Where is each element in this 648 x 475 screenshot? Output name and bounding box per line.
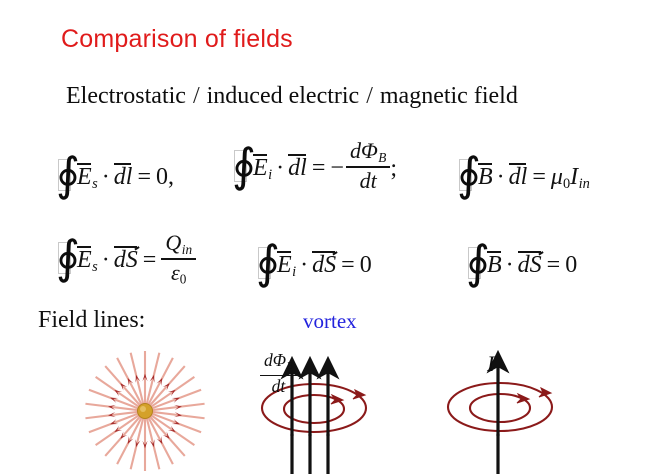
- current-symbol: I: [570, 164, 578, 191]
- field-arrow-stems-upper: [292, 368, 328, 436]
- equation-ampere-law: ∮ B·dl=μ0Iin: [457, 152, 590, 198]
- dot-product-operator: ·: [493, 164, 509, 190]
- equation-faraday-static-circulation: ∮ Es·dl=0,: [56, 152, 174, 198]
- current-subscript: in: [579, 176, 590, 192]
- differential-dS: dS: [518, 252, 542, 279]
- equals-sign: =: [336, 252, 360, 278]
- diagram-induced-electric-vortex: dΦB dt: [252, 350, 427, 475]
- label-flux-rate: dΦB dt: [260, 352, 297, 398]
- field-symbol-B: B: [487, 252, 502, 279]
- label-current-I: I: [487, 351, 494, 377]
- fraction-dphi-dt-diagram: dΦB dt: [260, 352, 297, 396]
- differential-dl: dl: [288, 155, 307, 182]
- vortex-label: vortex: [303, 309, 357, 334]
- numerator-text: Q: [165, 230, 181, 255]
- point-charge-highlight: [140, 406, 146, 412]
- fraction-numerator: dΦB: [346, 140, 390, 165]
- integral-glyph: ∮: [232, 137, 251, 193]
- field-subscript: s: [92, 259, 98, 275]
- dot-product-operator: ·: [98, 247, 114, 273]
- fraction-numerator: dΦB: [260, 352, 297, 374]
- fraction-denominator: dt: [260, 377, 297, 396]
- circulation-arrowhead-outer: [353, 390, 365, 399]
- equals-sign: =: [542, 252, 566, 278]
- subtitle-separator-2: /: [359, 83, 380, 109]
- equals-sign: =: [132, 164, 156, 190]
- numerator-text: dΦ: [350, 138, 378, 163]
- field-subscript: s: [92, 176, 98, 192]
- differential-dl: dl: [114, 164, 133, 191]
- field-symbol-E: E: [77, 164, 92, 191]
- contour-integral-icon: ∮: [457, 152, 476, 198]
- equals-sign: =: [307, 155, 331, 181]
- integral-glyph: ∮: [56, 146, 75, 202]
- trailing-punctuation: ,: [168, 164, 174, 190]
- fraction-denominator: ε0: [161, 261, 196, 286]
- field-symbol-E: E: [277, 252, 292, 279]
- equation-gauss-law-electric: ∮ Es·dS= Qin ε0: [56, 232, 196, 286]
- magnetic-vortex-svg: [440, 350, 610, 475]
- field-arrow-stems-lower: [292, 434, 328, 474]
- fraction-denominator: dt: [346, 169, 390, 193]
- numerator-text: dΦ: [264, 350, 286, 370]
- integral-glyph: ∮: [466, 234, 485, 290]
- rhs-value: 0: [565, 252, 577, 278]
- rhs-value: 0: [360, 252, 372, 278]
- contour-integral-icon: ∮: [256, 240, 275, 286]
- equals-sign: =: [138, 247, 162, 273]
- differential-dS: dS: [114, 247, 138, 274]
- numerator-subscript: B: [287, 361, 293, 372]
- equation-gauss-law-induced: ∮ Ei·dS=0: [256, 240, 372, 286]
- integral-glyph: ∮: [256, 234, 275, 290]
- fraction-dphi-dt: dΦB dt: [346, 140, 390, 192]
- diagram-magnetic-vortex: I: [440, 350, 610, 475]
- contour-integral-icon: ∮: [56, 152, 75, 198]
- minus-sign: −: [330, 155, 346, 181]
- contour-integral-icon: ∮: [56, 235, 75, 281]
- field-symbol-E: E: [77, 247, 92, 274]
- equals-sign: =: [527, 164, 551, 190]
- vortex-loops-group: [448, 383, 552, 431]
- trailing-punctuation: ;: [390, 155, 397, 181]
- field-symbol-B: B: [478, 164, 493, 191]
- subtitle-part-electrostatic: Electrostatic: [66, 83, 186, 109]
- equation-gauss-law-magnetic: ∮ B·dS=0: [466, 240, 577, 286]
- slide-canvas: Comparison of fields Electrostatic/induc…: [0, 0, 648, 475]
- differential-dl: dl: [509, 164, 528, 191]
- dot-product-operator: ·: [98, 164, 114, 190]
- denominator-subscript: 0: [180, 272, 187, 287]
- page-title: Comparison of fields: [61, 25, 293, 54]
- dot-product-operator: ·: [502, 252, 518, 278]
- subtitle-part-magnetic: magnetic field: [380, 83, 518, 109]
- contour-integral-icon: ∮: [466, 240, 485, 286]
- field-symbol-E: E: [253, 155, 268, 182]
- integral-glyph: ∮: [457, 146, 476, 202]
- rhs-value: 0: [156, 164, 168, 190]
- diagram-electrostatic-radial-field: [72, 348, 222, 475]
- numerator-subscript: B: [378, 150, 386, 165]
- radial-field-svg: [72, 348, 222, 475]
- contour-integral-icon: ∮: [232, 143, 251, 189]
- subtitle-separator-1: /: [186, 83, 207, 109]
- differential-dS: dS: [312, 252, 336, 279]
- field-lines-label: Field lines:: [38, 307, 145, 334]
- fraction-q-epsilon: Qin ε0: [161, 232, 196, 286]
- denominator-text: ε: [171, 260, 180, 285]
- integral-glyph: ∮: [56, 229, 75, 285]
- dot-product-operator: ·: [296, 252, 312, 278]
- equation-faraday-induced-circulation: ∮ Ei·dl=− dΦB dt ;: [232, 140, 397, 192]
- permeability-symbol: μ: [551, 164, 563, 191]
- vortex-loop-outer: [448, 383, 552, 431]
- subtitle-part-induced: induced electric: [207, 83, 360, 109]
- dot-product-operator: ·: [272, 155, 288, 181]
- subtitle-row: Electrostatic/induced electric/magnetic …: [66, 83, 518, 110]
- fraction-numerator: Qin: [161, 232, 196, 257]
- numerator-subscript: in: [182, 242, 192, 257]
